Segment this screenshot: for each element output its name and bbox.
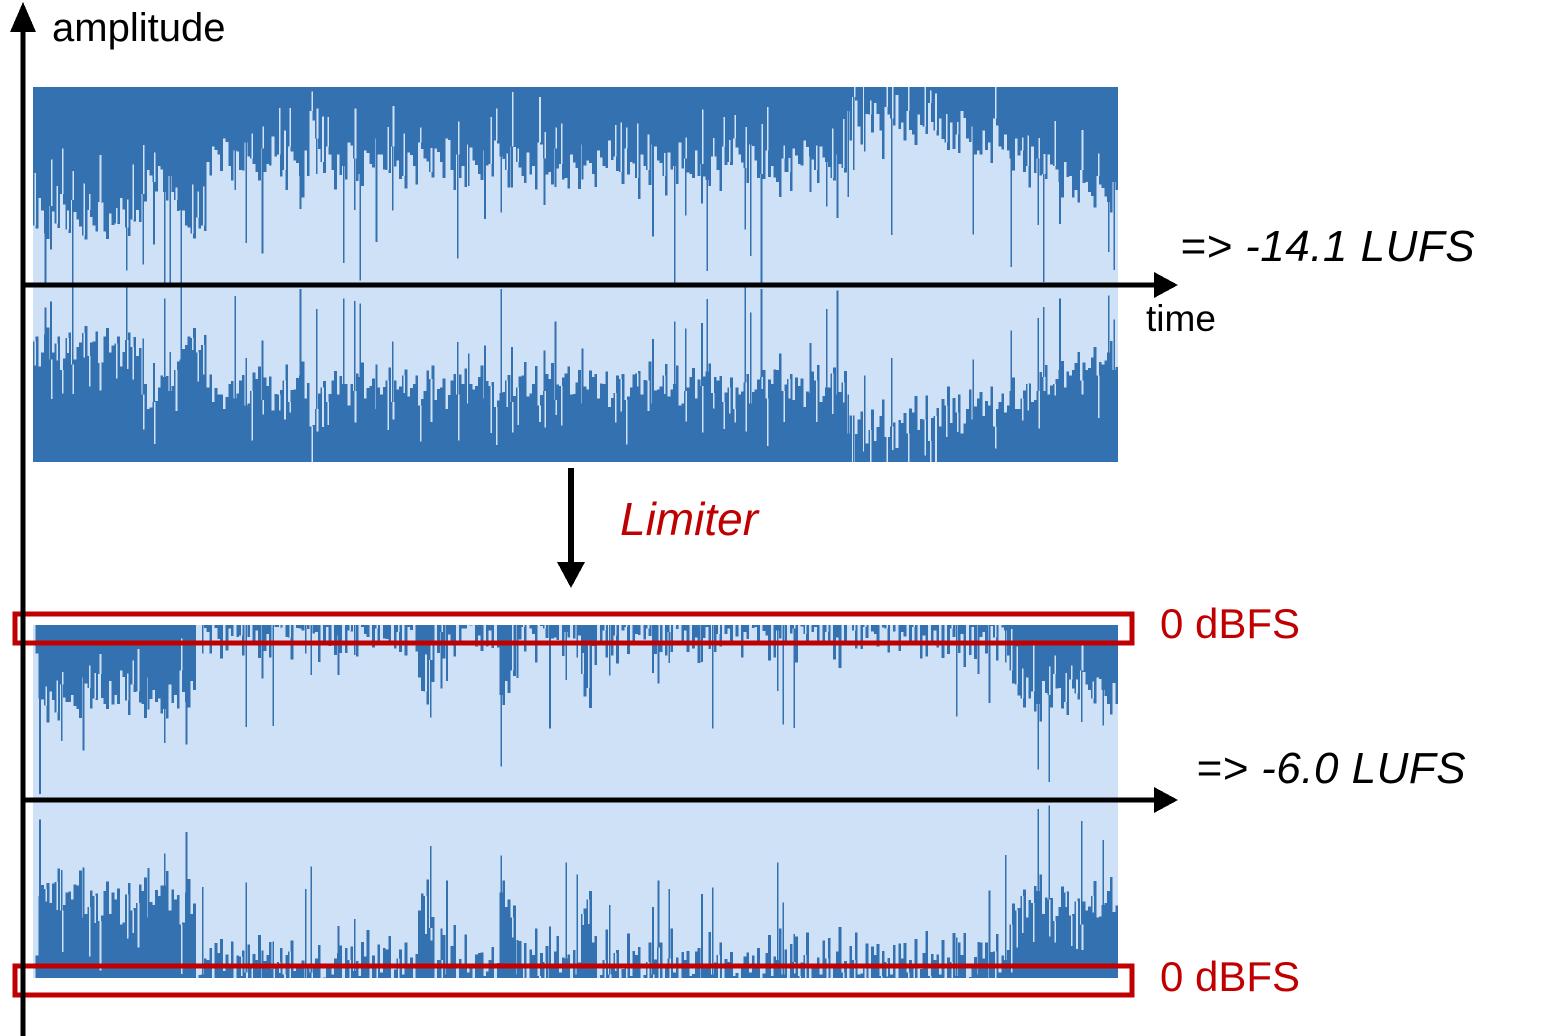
- dbfs-ceiling-label-bottom: 0 dBFS: [1160, 956, 1300, 998]
- limited-waveform-upper-envelope: [33, 625, 1118, 800]
- loudness-label-original: => -14.1 LUFS: [1180, 225, 1475, 269]
- loudness-label-limited: => -6.0 LUFS: [1196, 747, 1466, 791]
- x-axis-arrowhead-bottom: [1154, 787, 1178, 813]
- x-axis-arrowhead-top: [1154, 272, 1178, 298]
- y-axis-label: amplitude: [52, 8, 225, 48]
- y-axis-arrowhead: [10, 2, 36, 32]
- waveform-diagram: [0, 0, 1564, 1036]
- original-waveform: [33, 87, 1118, 462]
- limiter-arrow-head: [557, 562, 585, 588]
- dbfs-ceiling-label-top: 0 dBFS: [1160, 603, 1300, 645]
- limited-waveform-lower-envelope: [33, 800, 1118, 978]
- x-axis-label: time: [1146, 300, 1216, 337]
- figure-canvas: amplitude time => -14.1 LUFS Limiter 0 d…: [0, 0, 1564, 1036]
- limiter-label: Limiter: [620, 496, 758, 542]
